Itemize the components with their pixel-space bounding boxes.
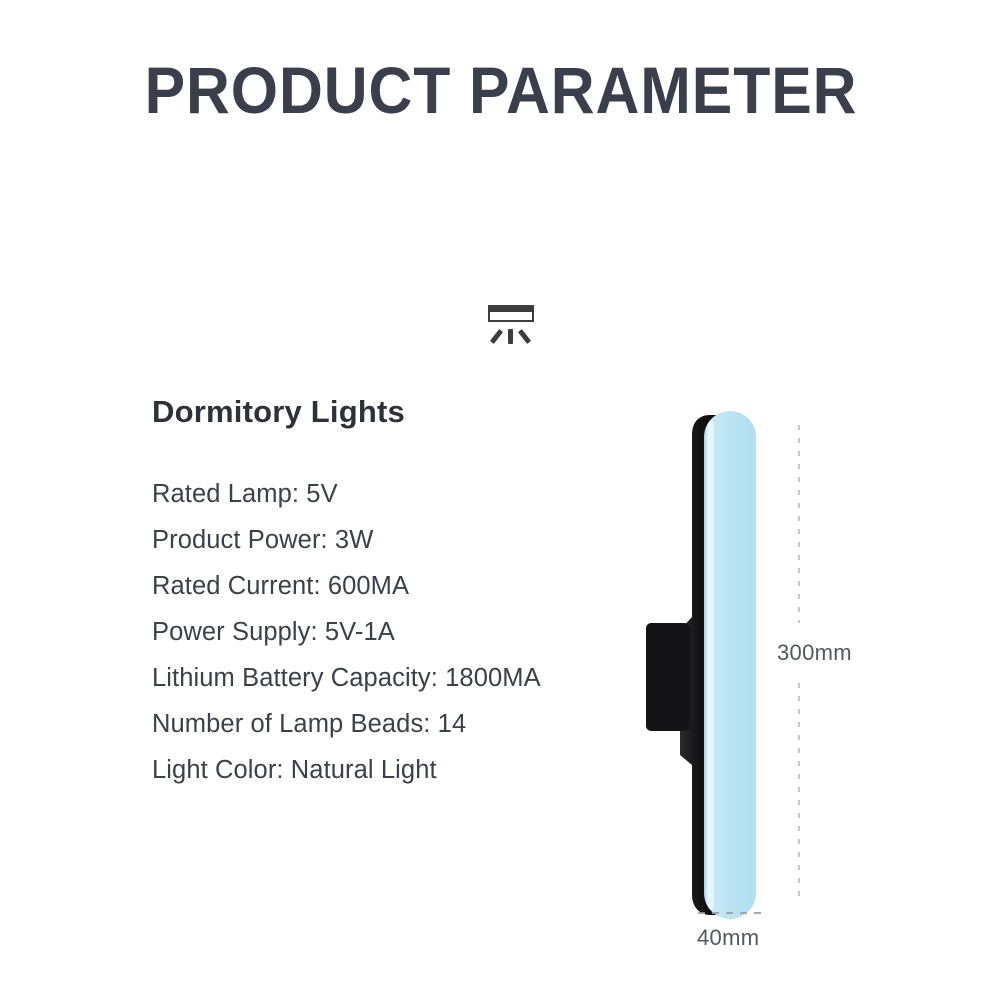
product-name-heading: Dormitory Lights <box>152 396 622 427</box>
product-image <box>620 395 920 965</box>
spec-list: Rated Lamp: 5V Product Power: 3W Rated C… <box>152 471 622 793</box>
lamp-icon-ray-right <box>518 329 531 344</box>
spec-item-rated-lamp: Rated Lamp: 5V <box>152 471 622 517</box>
lamp-icon-fixture-top <box>488 305 534 312</box>
lamp-icon <box>484 305 538 349</box>
lamp-icon-ray-left <box>490 329 503 344</box>
product-illustration <box>620 395 920 965</box>
product-parameter-page: PRODUCT PARAMETER Dormitory Lights Rated… <box>0 0 1002 1002</box>
spec-item-light-color: Light Color: Natural Light <box>152 747 622 793</box>
spec-item-battery-capacity: Lithium Battery Capacity: 1800MA <box>152 655 622 701</box>
width-dimension-label: 40mm <box>697 925 759 951</box>
lamp-icon-ray-middle <box>508 329 513 344</box>
product-mount-bracket <box>646 623 690 731</box>
product-panel-highlight <box>708 421 714 909</box>
page-title: PRODUCT PARAMETER <box>40 56 962 125</box>
spec-item-power-supply: Power Supply: 5V-1A <box>152 609 622 655</box>
height-dimension-label: 300mm <box>777 640 852 666</box>
spec-item-lamp-beads: Number of Lamp Beads: 14 <box>152 701 622 747</box>
spec-item-product-power: Product Power: 3W <box>152 517 622 563</box>
spec-item-rated-current: Rated Current: 600MA <box>152 563 622 609</box>
spec-block: Dormitory Lights Rated Lamp: 5V Product … <box>152 396 622 793</box>
